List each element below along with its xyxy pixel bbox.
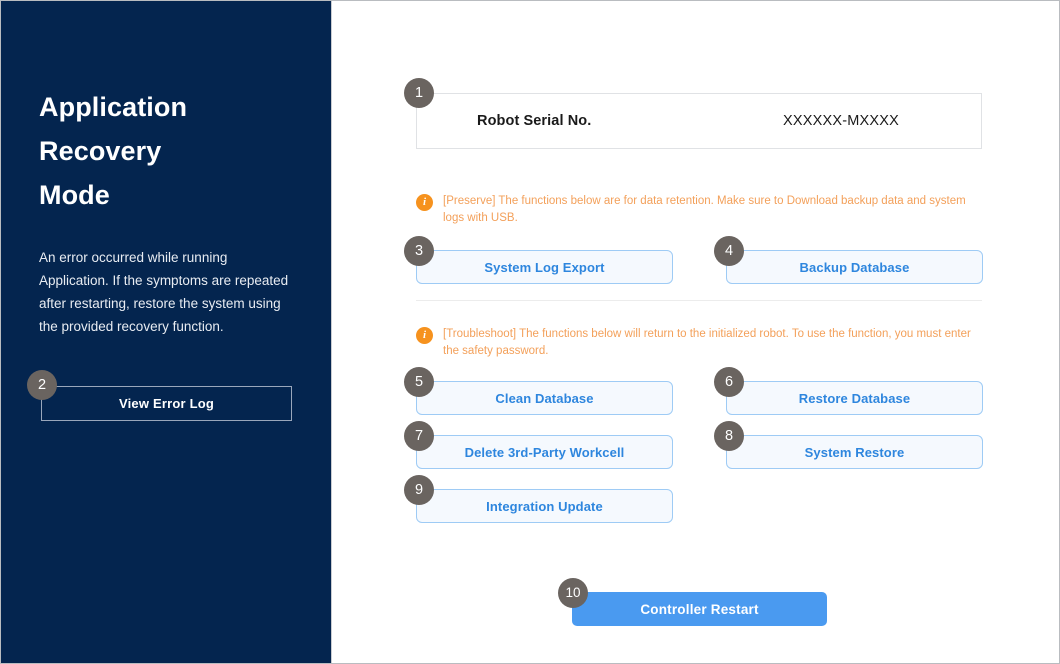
page-title-line-1: Application [39,85,299,129]
info-icon: i [416,194,433,211]
step-badge-6: 6 [714,367,744,397]
preserve-note-text: [Preserve] The functions below are for d… [443,193,971,227]
restore-database-button[interactable]: Restore Database [726,381,983,415]
main-content: 1 Robot Serial No. XXXXXX-MXXXX i [Prese… [333,1,1059,664]
step-badge-3: 3 [404,236,434,266]
info-icon: i [416,327,433,344]
step-badge-10: 10 [558,578,588,608]
robot-serial-card: Robot Serial No. XXXXXX-MXXXX [416,93,982,149]
page-title-line-3: Mode [39,173,299,217]
robot-serial-value: XXXXXX-MXXXX [783,113,899,129]
step-badge-5: 5 [404,367,434,397]
troubleshoot-note-text: [Troubleshoot] The functions below will … [443,326,971,360]
application-recovery-mode-screen: Application Recovery Mode An error occur… [0,0,1060,664]
step-badge-7: 7 [404,421,434,451]
integration-update-button[interactable]: Integration Update [416,489,673,523]
clean-database-button[interactable]: Clean Database [416,381,673,415]
system-restore-button[interactable]: System Restore [726,435,983,469]
step-badge-2: 2 [27,370,57,400]
step-badge-8: 8 [714,421,744,451]
view-error-log-container: 2 View Error Log [41,386,292,421]
step-badge-9: 9 [404,475,434,505]
robot-serial-label: Robot Serial No. [477,113,591,129]
page-title-line-2: Recovery [39,129,299,173]
step-badge-4: 4 [714,236,744,266]
page-title: Application Recovery Mode [39,85,299,217]
system-log-export-button[interactable]: System Log Export [416,250,673,284]
troubleshoot-note: i [Troubleshoot] The functions below wil… [416,326,971,360]
preserve-note: i [Preserve] The functions below are for… [416,193,971,227]
step-badge-1: 1 [404,78,434,108]
controller-restart-button[interactable]: Controller Restart [572,592,827,626]
sidebar: Application Recovery Mode An error occur… [1,1,332,664]
view-error-log-button[interactable]: View Error Log [41,386,292,421]
error-description: An error occurred while running Applicat… [39,246,294,338]
delete-3rd-party-workcell-button[interactable]: Delete 3rd-Party Workcell [416,435,673,469]
section-divider [416,300,982,301]
backup-database-button[interactable]: Backup Database [726,250,983,284]
